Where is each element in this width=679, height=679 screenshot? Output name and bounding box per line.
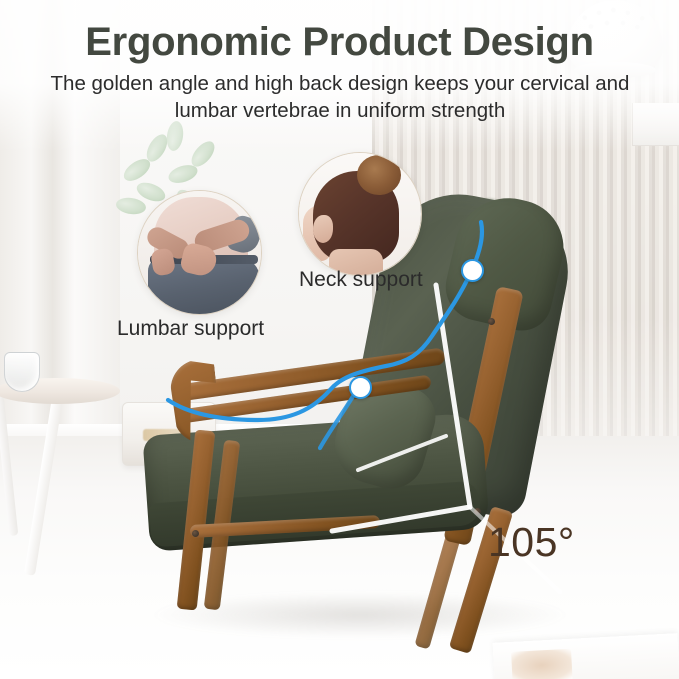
lumbar-support-photo — [137, 190, 262, 315]
neck-support-marker-dot[interactable] — [461, 259, 484, 282]
screw-icon — [192, 530, 199, 537]
neck-photo-ear — [313, 215, 333, 243]
callout-label-neck-support: Neck support — [299, 268, 423, 292]
callout-label-lumbar-support: Lumbar support — [117, 317, 264, 341]
product-marketing-image: Ergonomic Product Design The golden angl… — [0, 0, 679, 679]
page-subtitle: The golden angle and high back design ke… — [40, 70, 640, 124]
screw-icon — [488, 318, 495, 325]
angle-measurement-label: 105° — [488, 519, 575, 566]
screw-icon — [474, 508, 481, 515]
lumbar-support-marker-dot[interactable] — [349, 376, 372, 399]
neck-support-photo — [298, 152, 422, 276]
page-title: Ergonomic Product Design — [0, 20, 679, 65]
neck-photo-bun — [357, 155, 401, 195]
